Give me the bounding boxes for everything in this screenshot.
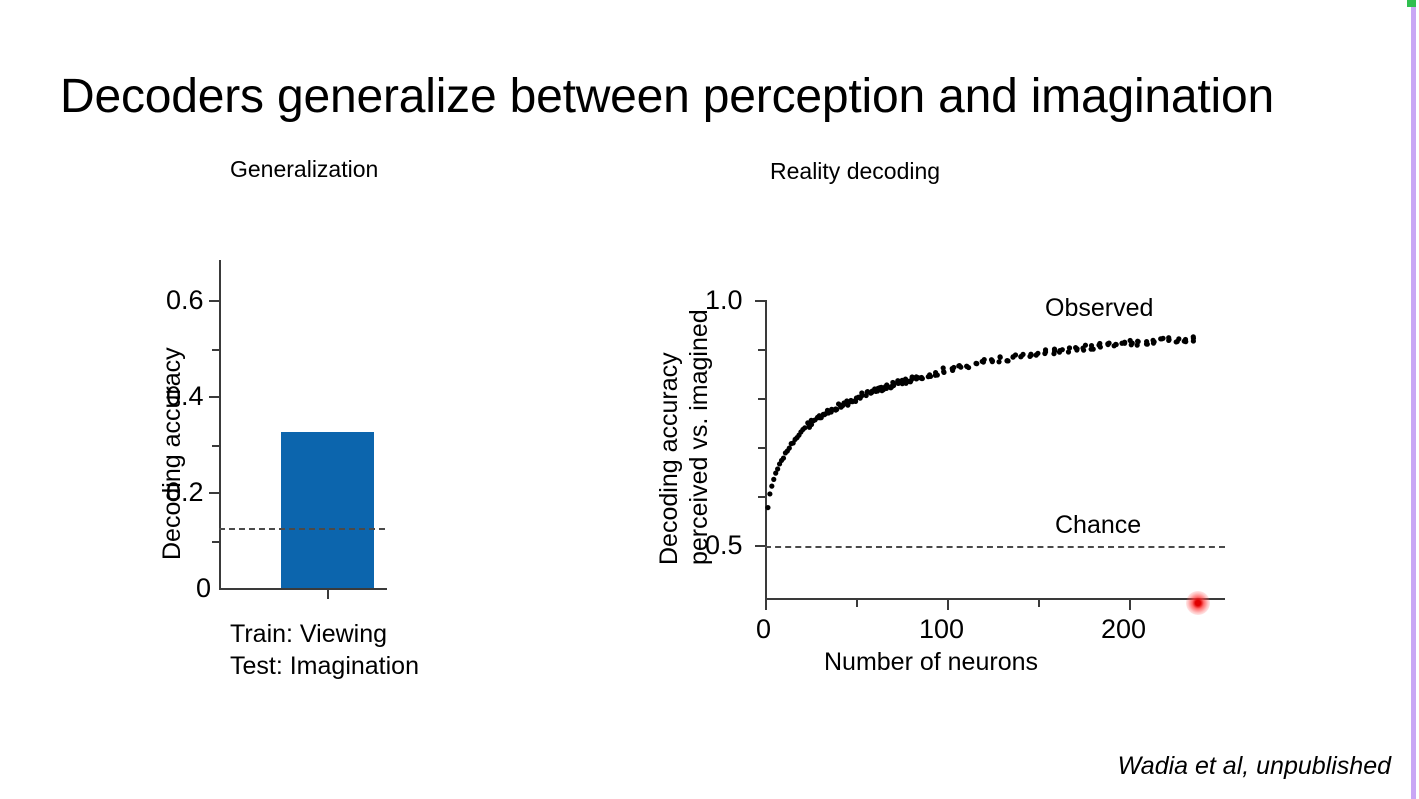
y-tick-label-0-4: 0.4 [166,383,204,410]
y-tick-major-0-6 [209,300,219,302]
x-tick-category [327,590,329,599]
panel-generalization: Generalization Decoding accuracy 0.6 0.4… [0,0,520,799]
bar-train-viewing-test-imagination [281,432,374,588]
category-label-line1: Train: Viewing [230,618,387,650]
attribution-text: Wadia et al, unpublished [1118,752,1391,781]
scatter-plot-observed [620,0,1320,799]
y-tick-major-0-4 [209,396,219,398]
y-axis-line-left [219,260,221,590]
chance-line-left [219,528,385,530]
y-tick-minor-0-1 [212,541,219,543]
x-axis-line-left [219,588,387,590]
y-tick-label-0-2: 0.2 [166,479,204,506]
category-label-line2: Test: Imagination [230,650,419,682]
y-axis-label-left: Decoding accuracy [158,347,186,560]
y-tick-label-0-6: 0.6 [166,287,204,314]
y-tick-label-0: 0 [196,575,211,602]
laser-pointer-dot [1186,591,1210,615]
y-tick-minor-0-3 [212,445,219,447]
panel-reality-decoding: Reality decoding Decoding accuracy perce… [620,0,1320,799]
slide-canvas: Decoders generalize between perception a… [0,0,1419,799]
y-tick-major-0-2 [209,492,219,494]
screen-share-indicator [1407,0,1416,7]
panel-title-generalization: Generalization [230,156,378,182]
screen-share-strip [1411,0,1416,799]
y-tick-minor-0-5 [212,349,219,351]
